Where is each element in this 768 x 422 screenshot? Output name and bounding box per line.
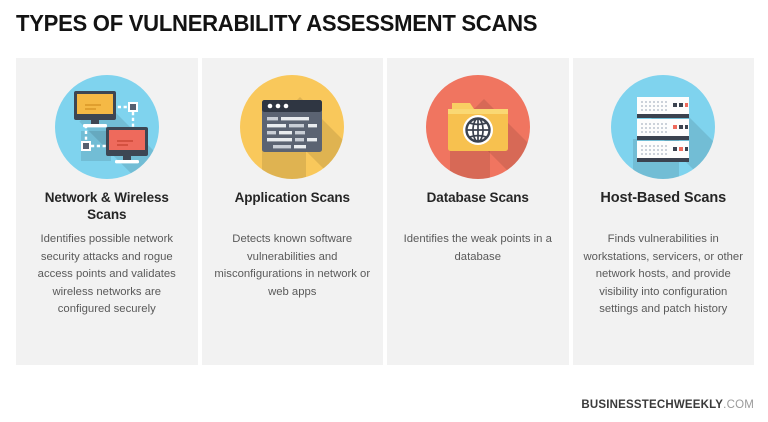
card-host-based[interactable]: Host-Based Scans Finds vulnerabilities i… (573, 58, 755, 365)
scan-type-cards: Network & Wireless Scans Identifies poss… (16, 58, 754, 365)
server-rack-icon (611, 75, 715, 179)
folder-globe-icon (426, 75, 530, 179)
card-body: Finds vulnerabilities in workstations, s… (582, 231, 746, 319)
card-heading: Application Scans (210, 189, 376, 206)
card-heading: Database Scans (395, 189, 561, 206)
card-heading: Network & Wireless Scans (24, 189, 190, 224)
network-monitors-icon (55, 75, 159, 179)
card-body: Identifies possible network security att… (25, 231, 189, 319)
infographic-page: TYPES OF VULNERABILITY ASSESSMENT SCANS (0, 0, 768, 422)
page-title: TYPES OF VULNERABILITY ASSESSMENT SCANS (16, 10, 537, 37)
card-network-wireless[interactable]: Network & Wireless Scans Identifies poss… (16, 58, 198, 365)
brand-name: BUSINESSTECHWEEKLY (581, 399, 723, 411)
brand-tld: .COM (723, 399, 754, 411)
server-rack-glyph (611, 75, 715, 179)
card-application[interactable]: Application Scans Detects known software… (202, 58, 384, 365)
card-heading: Host-Based Scans (581, 189, 747, 208)
folder-globe-glyph (426, 75, 530, 179)
card-database[interactable]: Database Scans Identifies the weak point… (387, 58, 569, 365)
code-window-glyph (240, 75, 344, 179)
network-monitors-glyph (55, 75, 159, 179)
footer-brand: BUSINESSTECHWEEKLY.COM (581, 399, 754, 411)
card-body: Identifies the weak points in a database (396, 231, 560, 266)
code-window-icon (240, 75, 344, 179)
card-body: Detects known software vulnerabilities a… (211, 231, 375, 301)
